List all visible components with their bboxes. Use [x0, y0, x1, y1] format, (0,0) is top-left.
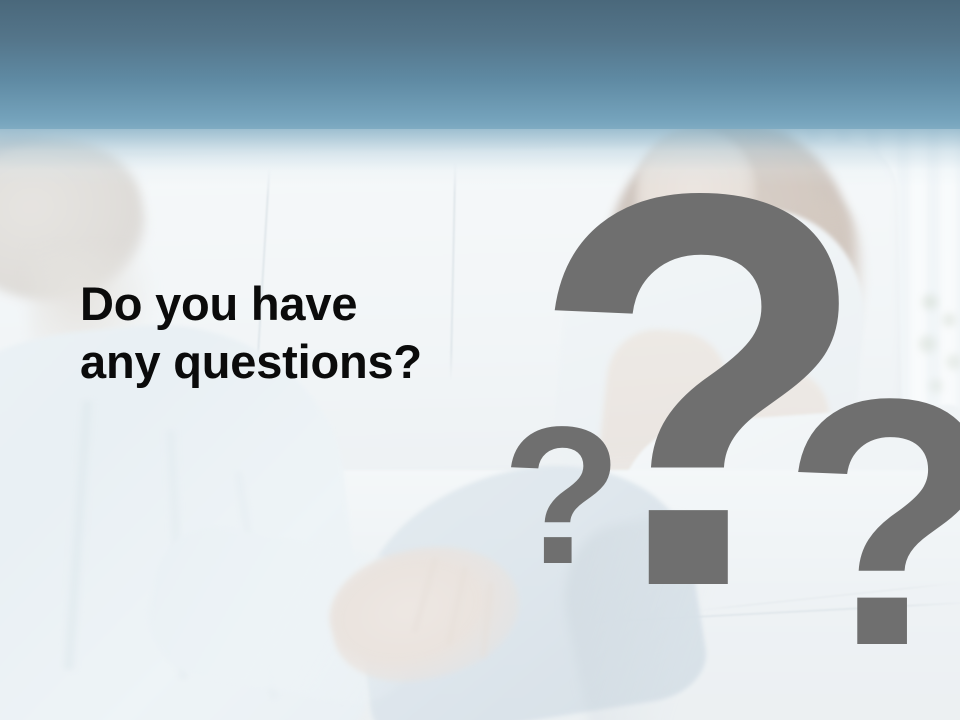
question-mark-icon-small: ? [502, 398, 622, 594]
slide-canvas: ? ? ? Do you have any questions? [0, 0, 960, 720]
question-mark-icon-right: ? [782, 346, 960, 698]
slide-headline: Do you have any questions? [80, 275, 550, 391]
